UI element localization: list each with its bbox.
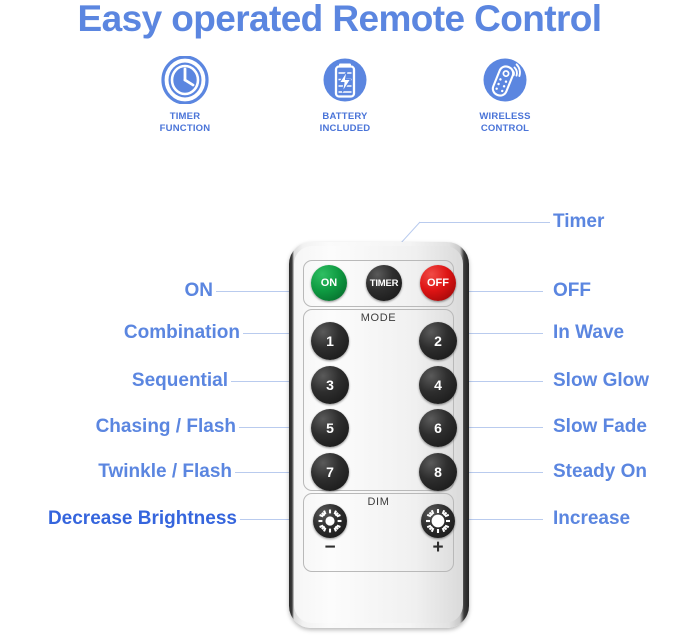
mode-button-2[interactable]: 2 <box>419 322 457 360</box>
callout-text: Combination <box>124 322 240 343</box>
sun-large-icon <box>425 508 451 534</box>
mode-button-label: 1 <box>326 333 334 349</box>
callout-in-wave: In Wave <box>553 322 624 344</box>
callout-text: Chasing / Flash <box>96 416 236 437</box>
callout-sequential: Sequential <box>20 370 228 392</box>
mode-button-label: 6 <box>434 420 442 436</box>
off-button-label: OFF <box>427 277 449 289</box>
callout-text: Increase <box>553 508 630 529</box>
mode-button-8[interactable]: 8 <box>419 453 457 491</box>
sun-small-icon <box>317 508 343 534</box>
mode-button-label: 8 <box>434 464 442 480</box>
remote-faceplate: ON TIMER OFF MODE 1 2 3 4 5 <box>294 246 463 623</box>
timer-button[interactable]: TIMER <box>366 265 402 301</box>
mode-button-label: 2 <box>434 333 442 349</box>
callout-on: ON <box>20 280 213 302</box>
callout-timer: Timer <box>553 211 604 233</box>
callout-steady-on: Steady On <box>553 461 647 483</box>
mode-button-4[interactable]: 4 <box>419 366 457 404</box>
dim-decrease-button[interactable] <box>313 504 347 538</box>
callout-slow-glow: Slow Glow <box>553 370 649 392</box>
mode-button-7[interactable]: 7 <box>311 453 349 491</box>
product-infographic: Easy operated Remote Control TIMER FUNCT… <box>0 0 679 635</box>
callout-twinkle-flash: Twinkle / Flash <box>20 461 232 483</box>
callout-off: OFF <box>553 280 591 302</box>
callout-text: OFF <box>553 280 591 301</box>
callout-chasing-flash: Chasing / Flash <box>20 416 236 438</box>
callout-text: Timer <box>553 211 604 232</box>
callout-slow-fade: Slow Fade <box>553 416 647 438</box>
mode-button-1[interactable]: 1 <box>311 322 349 360</box>
mode-button-label: 5 <box>326 420 334 436</box>
callout-text: Sequential <box>132 370 228 391</box>
dim-plus-sign: + <box>426 538 450 558</box>
mode-button-label: 4 <box>434 377 442 393</box>
callout-text: Decrease Brightness <box>48 508 237 529</box>
callout-text: ON <box>185 280 214 301</box>
mode-button-5[interactable]: 5 <box>311 409 349 447</box>
dim-minus-sign: − <box>318 538 342 558</box>
callout-text: Twinkle / Flash <box>98 461 232 482</box>
dim-increase-button[interactable] <box>421 504 455 538</box>
on-button[interactable]: ON <box>311 265 347 301</box>
off-button[interactable]: OFF <box>420 265 456 301</box>
mode-button-label: 7 <box>326 464 334 480</box>
mode-button-3[interactable]: 3 <box>311 366 349 404</box>
callout-text: Slow Fade <box>553 416 647 437</box>
on-button-label: ON <box>321 277 338 289</box>
mode-button-6[interactable]: 6 <box>419 409 457 447</box>
mode-button-label: 3 <box>326 377 334 393</box>
callout-text: Slow Glow <box>553 370 649 391</box>
callout-combination: Combination <box>20 322 240 344</box>
callout-text: Steady On <box>553 461 647 482</box>
timer-button-label: TIMER <box>370 278 399 289</box>
callout-increase: Increase <box>553 508 630 530</box>
remote-control-device: ON TIMER OFF MODE 1 2 3 4 5 <box>289 242 469 628</box>
callout-text: In Wave <box>553 322 624 343</box>
callout-decrease-brightness: Decrease Brightness <box>0 508 237 530</box>
